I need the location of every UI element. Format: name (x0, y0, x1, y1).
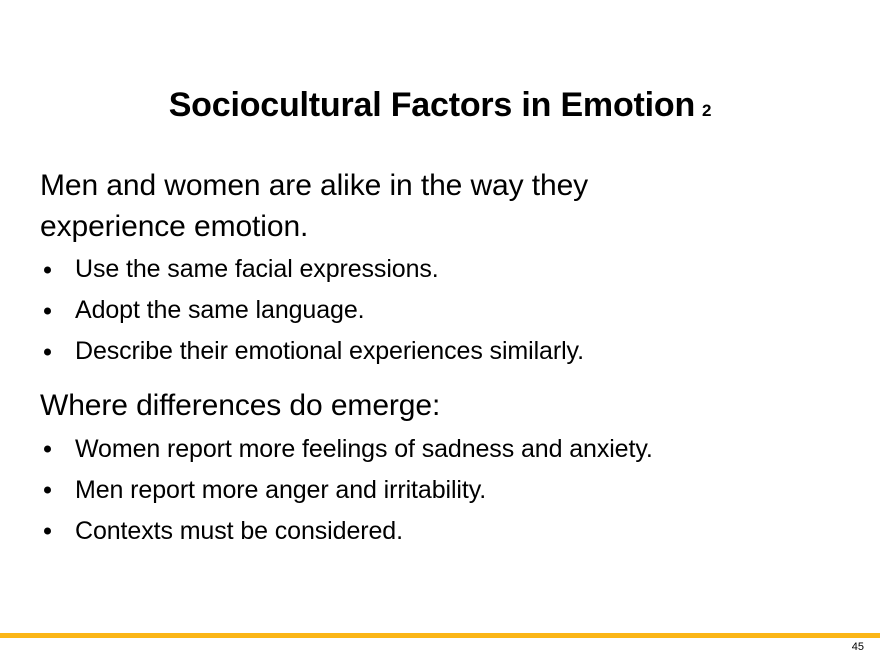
list-item: Describe their emotional experiences sim… (40, 339, 840, 364)
list-item-text: Adopt the same language. (75, 296, 364, 324)
bullet-dot-icon (44, 307, 51, 314)
bullet-dot-icon (44, 266, 51, 273)
page-title-text: Sociocultural Factors in Emotion (169, 86, 695, 124)
list-item-text: Describe their emotional experiences sim… (75, 337, 584, 365)
section-similarities: Men and women are alike in the way they … (40, 166, 840, 364)
list-item: Women report more feelings of sadness an… (40, 437, 840, 462)
bullet-dot-icon (44, 446, 51, 453)
list-item-text: Use the same facial expressions. (75, 255, 439, 283)
section-heading: Where differences do emerge: (40, 386, 680, 427)
bullet-dot-icon (44, 348, 51, 355)
slide-body: Men and women are alike in the way they … (40, 166, 840, 544)
list-item: Adopt the same language. (40, 298, 840, 323)
list-item: Use the same facial expressions. (40, 257, 840, 282)
bullet-dot-icon (44, 528, 51, 535)
page-title: Sociocultural Factors in Emotion2 (0, 87, 880, 124)
section-heading: Men and women are alike in the way they … (40, 166, 680, 247)
bullet-list: Women report more feelings of sadness an… (40, 437, 840, 544)
footer-divider (0, 633, 880, 638)
list-item: Men report more anger and irritability. (40, 478, 840, 503)
page-title-suffix: 2 (702, 101, 711, 120)
presentation-slide: Sociocultural Factors in Emotion2 Men an… (0, 0, 880, 660)
slide-number: 45 (852, 642, 864, 653)
list-item-text: Men report more anger and irritability. (75, 476, 486, 504)
section-differences: Where differences do emerge: Women repor… (40, 386, 840, 544)
list-item-text: Women report more feelings of sadness an… (75, 435, 653, 463)
list-item: Contexts must be considered. (40, 519, 840, 544)
list-item-text: Contexts must be considered. (75, 517, 403, 545)
bullet-dot-icon (44, 487, 51, 494)
bullet-list: Use the same facial expressions. Adopt t… (40, 257, 840, 364)
